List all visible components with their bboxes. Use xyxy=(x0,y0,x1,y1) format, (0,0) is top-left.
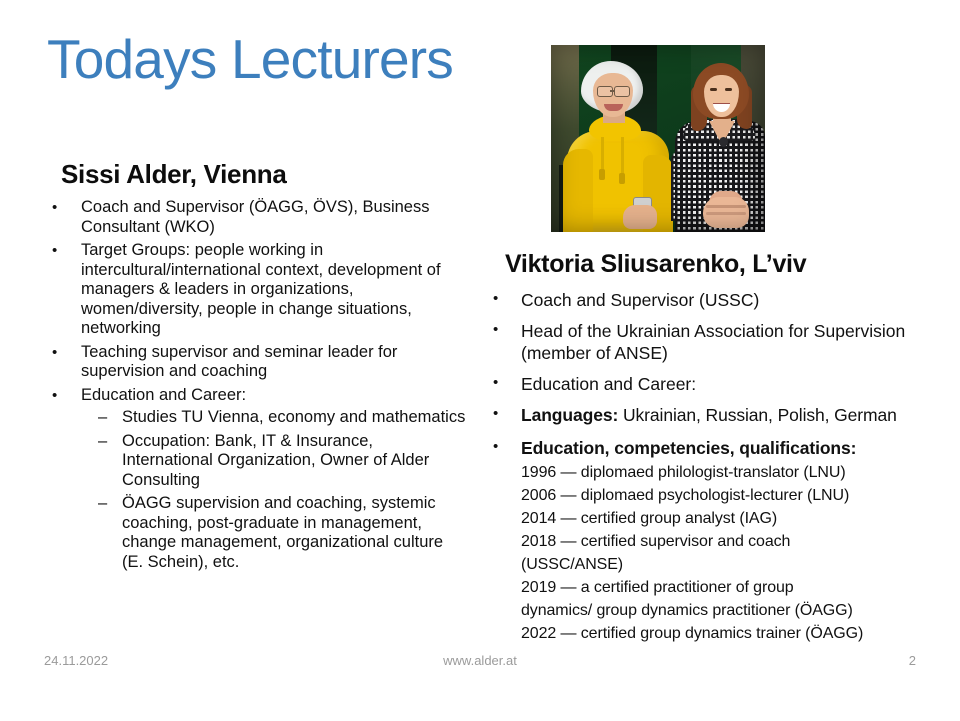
list-item: • Coach and Supervisor (USSC) xyxy=(487,289,912,311)
dash-icon: – xyxy=(98,494,107,514)
list-item: • Education and Career: – Studies TU Vie… xyxy=(47,386,467,573)
languages-label: Languages: xyxy=(521,405,618,425)
bullet-icon: • xyxy=(493,288,498,310)
qualifications-year-list: 1996 — diplomaed philologist-translator … xyxy=(521,461,912,645)
list-item: • Teaching supervisor and seminar leader… xyxy=(47,343,467,382)
bullet-icon: • xyxy=(52,386,57,406)
languages-value: Ukrainian, Russian, Polish, German xyxy=(618,405,897,425)
qualifications-label: Education, competencies, qualifications: xyxy=(521,438,856,458)
list-item: 2022 — certified group dynamics trainer … xyxy=(521,622,912,645)
lecturer-name-sissi-alder: Sissi Alder, Vienna xyxy=(61,158,467,190)
list-item: – Studies TU Vienna, economy and mathema… xyxy=(81,408,467,428)
footer-page-number: 2 xyxy=(909,650,916,672)
list-item-text: Head of the Ukrainian Association for Su… xyxy=(521,321,905,363)
list-item: 1996 — diplomaed philologist-translator … xyxy=(521,461,912,484)
bullet-icon: • xyxy=(493,403,498,425)
list-item: dynamics/ group dynamics practitioner (Ö… xyxy=(521,599,912,622)
bullet-icon: • xyxy=(52,241,57,261)
bullet-icon: • xyxy=(493,319,498,341)
list-item: – ÖAGG supervision and coaching, systemi… xyxy=(81,494,467,572)
list-item: • Target Groups: people working in inter… xyxy=(47,241,467,339)
list-item-text: Coach and Supervisor (ÖAGG, ÖVS), Busine… xyxy=(81,198,429,236)
list-item-text: Education and Career: xyxy=(81,386,246,404)
list-item-text: Occupation: Bank, IT & Insurance, Intern… xyxy=(122,432,429,489)
sissi-alder-bullet-list: • Coach and Supervisor (ÖAGG, ÖVS), Busi… xyxy=(47,198,467,572)
footer-url: www.alder.at xyxy=(0,650,960,672)
list-item-text: ÖAGG supervision and coaching, systemic … xyxy=(122,494,443,571)
list-item: • Head of the Ukrainian Association for … xyxy=(487,320,912,364)
slide-canvas: Todays Lecturers xyxy=(0,0,960,721)
list-item: 2014 — certified group analyst (IAG) xyxy=(521,507,912,530)
list-item-qualifications: • Education, competencies, qualification… xyxy=(487,437,912,645)
lecturer-name-viktoria-sliusarenko: Viktoria Sliusarenko, L’viv xyxy=(505,249,912,280)
list-item: • Coach and Supervisor (ÖAGG, ÖVS), Busi… xyxy=(47,198,467,237)
lecturer-block-viktoria-sliusarenko: Viktoria Sliusarenko, L’viv • Coach and … xyxy=(487,249,912,645)
bullet-icon: • xyxy=(493,372,498,394)
bullet-icon: • xyxy=(493,436,498,458)
list-item: 2019 — a certified practitioner of group xyxy=(521,576,912,599)
list-item: (USSC/ANSE) xyxy=(521,553,912,576)
page-title: Todays Lecturers xyxy=(47,28,453,90)
list-item-text: Target Groups: people working in intercu… xyxy=(81,241,441,337)
list-item-text: Teaching supervisor and seminar leader f… xyxy=(81,343,397,381)
viktoria-sliusarenko-bullet-list: • Coach and Supervisor (USSC) • Head of … xyxy=(487,289,912,645)
lecturers-photo xyxy=(551,45,765,232)
bullet-icon: • xyxy=(52,198,57,218)
list-item: • Education and Career: xyxy=(487,373,912,395)
list-item-text: Coach and Supervisor (USSC) xyxy=(521,290,759,310)
dash-icon: – xyxy=(98,408,107,428)
list-item-text: Studies TU Vienna, economy and mathemati… xyxy=(122,408,465,426)
photo-vignette xyxy=(551,45,765,232)
list-item-text: Education and Career: xyxy=(521,374,696,394)
sissi-alder-education-sublist: – Studies TU Vienna, economy and mathema… xyxy=(81,408,467,572)
bullet-icon: • xyxy=(52,343,57,363)
list-item: – Occupation: Bank, IT & Insurance, Inte… xyxy=(81,432,467,491)
lecturer-block-sissi-alder: Sissi Alder, Vienna • Coach and Supervis… xyxy=(47,158,467,576)
list-item: 2006 — diplomaed psychologist-lecturer (… xyxy=(521,484,912,507)
dash-icon: – xyxy=(98,432,107,452)
list-item: 2018 — certified supervisor and coach xyxy=(521,530,912,553)
list-item-languages: • Languages: Ukrainian, Russian, Polish,… xyxy=(487,404,912,426)
slide-footer: 24.11.2022 www.alder.at 2 xyxy=(0,650,960,672)
